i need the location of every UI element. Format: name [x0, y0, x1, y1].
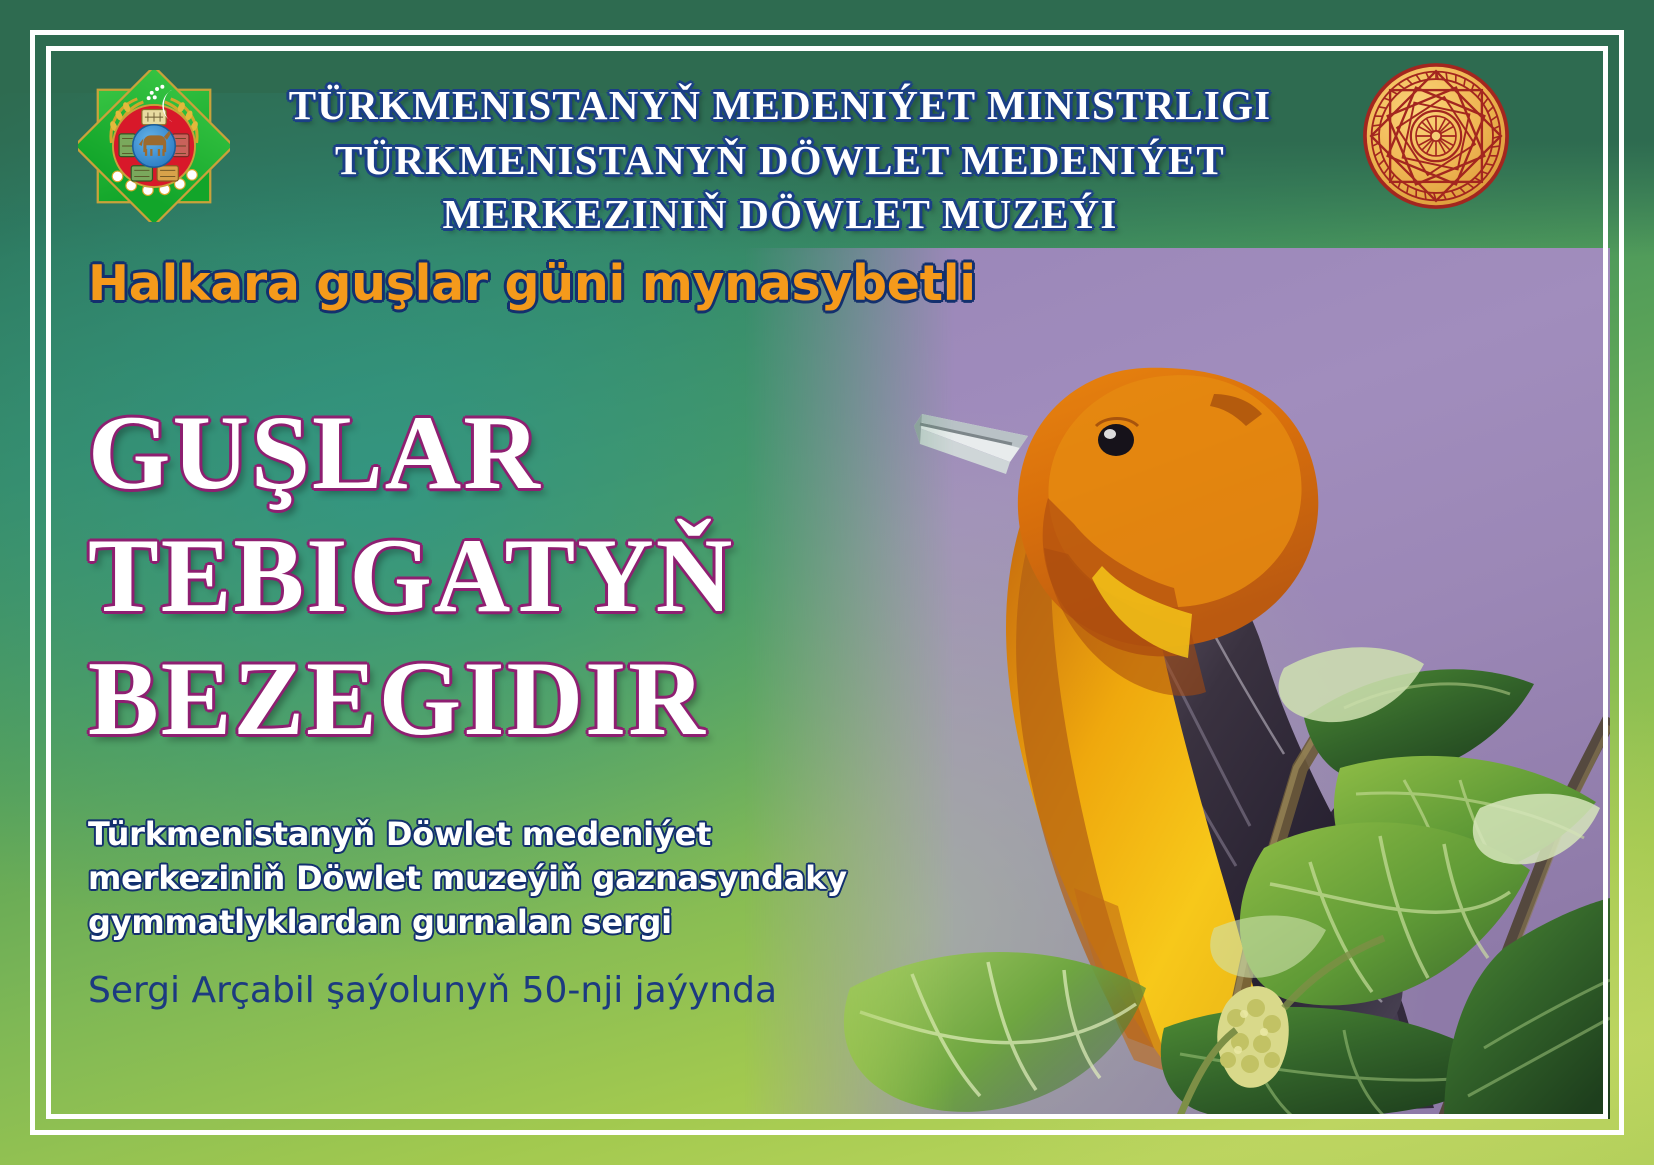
- title-line-3: BEZEGIDIR: [88, 638, 868, 761]
- description-line-1: Türkmenistanyň Döwlet medeniýet: [88, 812, 848, 856]
- header-line-2: TÜRKMENISTANYŇ DÖWLET MEDENIÝET: [215, 133, 1345, 188]
- poster-canvas: TÜRKMENISTANYŇ MEDENIÝET MINISTRLIGI TÜR…: [0, 0, 1654, 1165]
- exhibition-description: Türkmenistanyň Döwlet medeniýet merkezin…: [88, 812, 848, 944]
- bird-photo: [744, 248, 1610, 1119]
- event-subtitle: Halkara guşlar güni mynasybetli: [88, 255, 976, 312]
- title-line-2: TEBIGATYŇ: [88, 515, 868, 638]
- header-line-1: TÜRKMENISTANYŇ MEDENIÝET MINISTRLIGI: [215, 78, 1345, 133]
- ministry-header: TÜRKMENISTANYŇ MEDENIÝET MINISTRLIGI TÜR…: [215, 78, 1345, 242]
- turkmenistan-state-emblem-icon: [78, 70, 230, 222]
- turkmen-carpet-gul-medallion-icon: [1362, 62, 1510, 210]
- description-line-3: gymmatlyklardan gurnalan sergi: [88, 900, 848, 944]
- venue-address: Sergi Arçabil şaýolunyň 50-nji jaýynda: [88, 970, 777, 1011]
- exhibition-title: GUŞLAR TEBIGATYŇ BEZEGIDIR: [88, 392, 868, 761]
- header-line-3: MERKEZINIŇ DÖWLET MUZEÝI: [215, 187, 1345, 242]
- description-line-2: merkeziniň Döwlet muzeýiň gaznasyndaky: [88, 856, 848, 900]
- title-line-1: GUŞLAR: [88, 392, 868, 515]
